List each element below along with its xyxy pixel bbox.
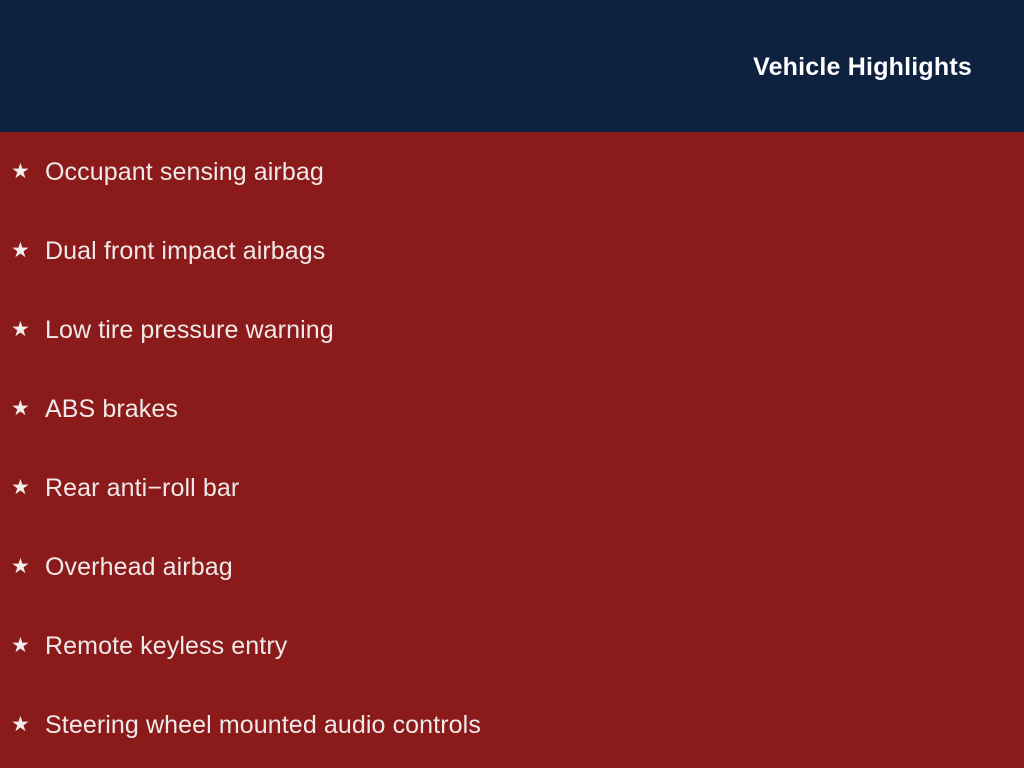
- vehicle-highlights-slide: Vehicle Highlights ★ Occupant sensing ai…: [0, 0, 1024, 768]
- list-item: ★ ABS brakes: [0, 369, 1024, 448]
- star-bullet-icon: ★: [11, 317, 28, 343]
- star-bullet-icon: ★: [11, 396, 28, 422]
- star-bullet-icon: ★: [11, 159, 28, 185]
- slide-header: Vehicle Highlights: [0, 0, 1024, 132]
- highlight-label: Dual front impact airbags: [45, 236, 325, 266]
- list-item: ★ Steering wheel mounted audio controls: [0, 685, 1024, 764]
- highlight-label: Occupant sensing airbag: [45, 157, 324, 187]
- page-title: Vehicle Highlights: [753, 55, 972, 80]
- highlight-label: ABS brakes: [45, 394, 178, 424]
- highlight-label: Overhead airbag: [45, 552, 233, 582]
- highlight-label: Remote keyless entry: [45, 631, 287, 661]
- list-item: ★ Remote keyless entry: [0, 606, 1024, 685]
- list-item: ★ Low tire pressure warning: [0, 290, 1024, 369]
- list-item: ★ Overhead airbag: [0, 527, 1024, 606]
- star-bullet-icon: ★: [11, 238, 28, 264]
- star-bullet-icon: ★: [11, 475, 28, 501]
- star-bullet-icon: ★: [11, 554, 28, 580]
- highlight-label: Steering wheel mounted audio controls: [45, 710, 481, 740]
- list-item: ★ Rear anti−roll bar: [0, 448, 1024, 527]
- star-bullet-icon: ★: [11, 633, 28, 659]
- highlight-label: Low tire pressure warning: [45, 315, 334, 345]
- list-item: ★ Occupant sensing airbag: [0, 132, 1024, 211]
- highlight-label: Rear anti−roll bar: [45, 473, 239, 503]
- star-bullet-icon: ★: [11, 712, 28, 738]
- list-item: ★ Dual front impact airbags: [0, 211, 1024, 290]
- vehicle-highlights-list: ★ Occupant sensing airbag ★ Dual front i…: [0, 132, 1024, 768]
